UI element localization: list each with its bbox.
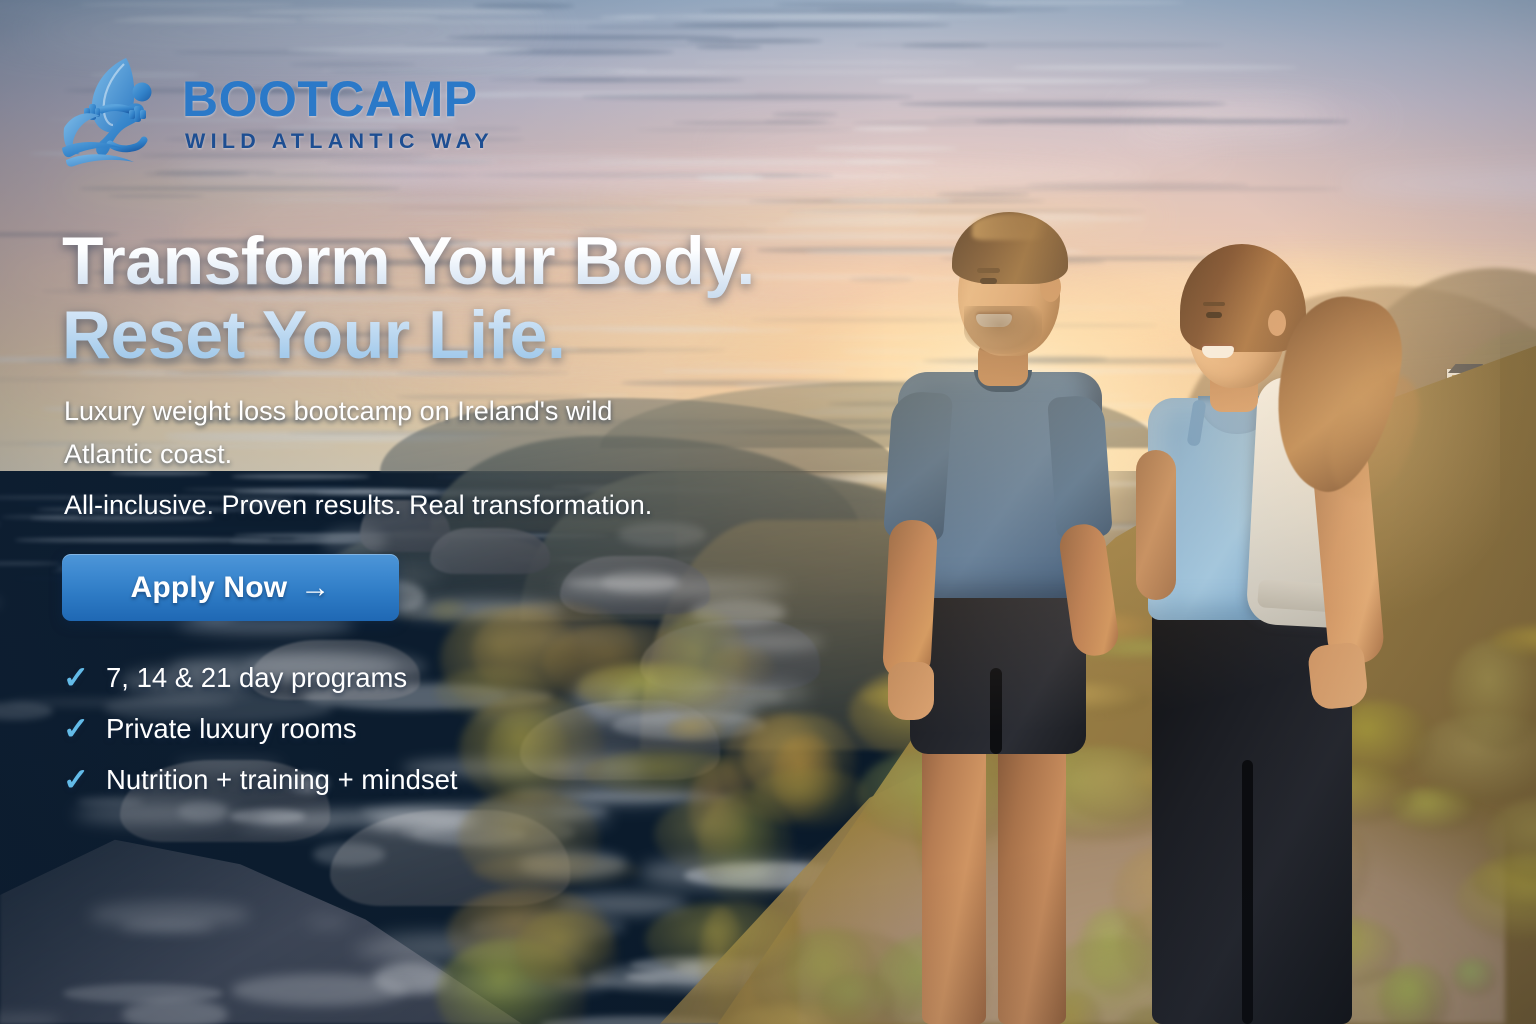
man-right-sleeve [1047,394,1113,540]
hero-banner: BOOTCAMP WILD ATLANTIC WAY Transform You… [0,0,1536,1024]
feature-item: ✓Nutrition + training + mindset [62,754,458,805]
check-icon: ✓ [62,662,90,693]
man-eye [980,278,997,284]
woman-hair [1180,244,1306,352]
check-icon: ✓ [62,713,90,744]
subcopy-line-1: Luxury weight loss bootcamp on Ireland's… [64,390,764,433]
man-left-sleeve [883,390,953,542]
leaf-athlete-wave-logo-icon [58,52,168,170]
logo-wordmark: BOOTCAMP WILD ATLANTIC WAY [182,70,494,153]
woman-leggings-split [1242,760,1253,1024]
subcopy-line-3: All-inclusive. Proven results. Real tran… [64,484,764,527]
man-brow [977,268,1000,273]
feature-item: ✓7, 14 & 21 day programs [62,652,458,703]
feature-label: Nutrition + training + mindset [106,766,458,794]
feature-item: ✓Private luxury rooms [62,703,458,754]
feature-list: ✓7, 14 & 21 day programs✓Private luxury … [62,652,458,805]
hero-subcopy: Luxury weight loss bootcamp on Ireland's… [64,390,764,528]
woman-right-hand [1307,641,1369,711]
man-shorts-split [990,668,1002,754]
apply-now-label: Apply Now [131,571,288,605]
hero-headline: Transform Your Body. Reset Your Life. [62,224,755,372]
man-left-arm [882,519,938,681]
headline-line-1: Transform Your Body. [62,224,755,298]
man-beard [964,306,1042,354]
logo-tagline: WILD ATLANTIC WAY [182,131,494,153]
couple-photo-subject [880,120,1500,1024]
feature-label: Private luxury rooms [106,715,357,743]
arrow-right-icon: → [300,573,330,603]
brand-logo[interactable]: BOOTCAMP WILD ATLANTIC WAY [58,52,494,170]
man-hair-highlight [972,214,1046,240]
man-left-hand [888,662,934,720]
woman-smile [1202,346,1234,358]
headline-line-2: Reset Your Life. [62,298,755,372]
logo-brand-name: BOOTCAMP [182,74,494,124]
apply-now-button[interactable]: Apply Now → [62,554,399,621]
woman-brow [1203,302,1225,306]
subcopy-line-2: Atlantic coast. [64,433,764,476]
check-icon: ✓ [62,764,90,795]
woman-eye [1206,312,1222,318]
feature-label: 7, 14 & 21 day programs [106,664,407,692]
hero-content: BOOTCAMP WILD ATLANTIC WAY Transform You… [0,0,820,1024]
woman-left-arm [1136,450,1176,600]
woman-ear [1268,310,1286,336]
